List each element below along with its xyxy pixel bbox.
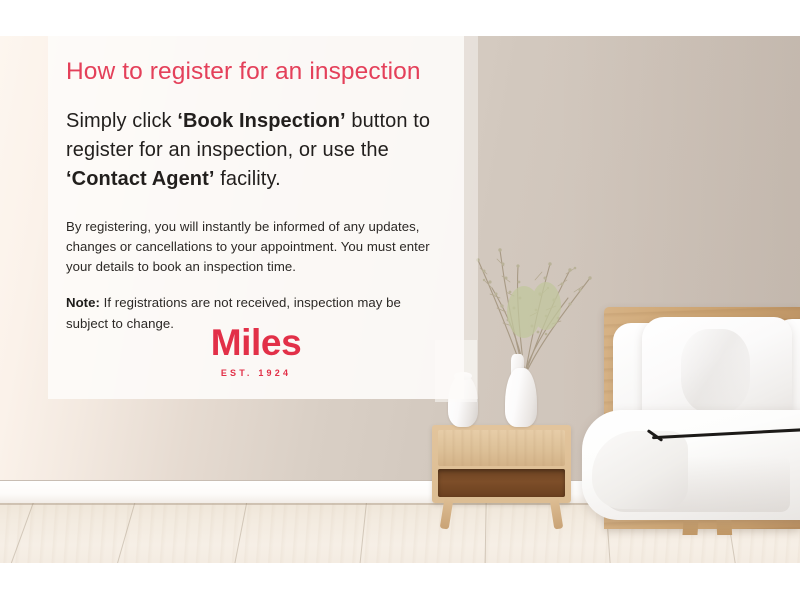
registration-info-paragraph: By registering, you will instantly be in…	[66, 217, 438, 277]
note-label: Note:	[66, 295, 100, 310]
page-title: How to register for an inspection	[66, 58, 438, 87]
screenshot-canvas: How to register for an inspection Simply…	[0, 0, 800, 600]
lead-paragraph: Simply click ‘Book Inspection’ button to…	[66, 107, 438, 193]
lead-text-part-3: facility.	[215, 168, 281, 190]
logo-wordmark: Miles	[48, 324, 464, 361]
nightstand-body	[432, 425, 571, 503]
letterbox-bar-bottom	[0, 563, 800, 600]
nightstand	[432, 425, 571, 529]
nightstand-drawer	[438, 430, 565, 466]
book-inspection-emphasis: ‘Book Inspection’	[177, 110, 345, 132]
info-panel: How to register for an inspection Simply…	[48, 36, 464, 399]
nightstand-leg	[550, 498, 564, 529]
bedroom-scene-image: How to register for an inspection Simply…	[0, 36, 800, 563]
contact-agent-emphasis: ‘Contact Agent’	[66, 168, 215, 190]
miles-logo: Miles EST. 1924	[48, 324, 464, 378]
vase-tall	[505, 368, 537, 427]
logo-established-text: EST. 1924	[48, 368, 464, 378]
nightstand-leg	[440, 498, 454, 529]
letterbox-bar-top	[0, 0, 800, 36]
nightstand-open-shelf	[438, 469, 565, 497]
drawer-wood-grain	[438, 430, 565, 466]
lead-text-part-1: Simply click	[66, 110, 177, 132]
duvet-fold	[592, 431, 688, 509]
